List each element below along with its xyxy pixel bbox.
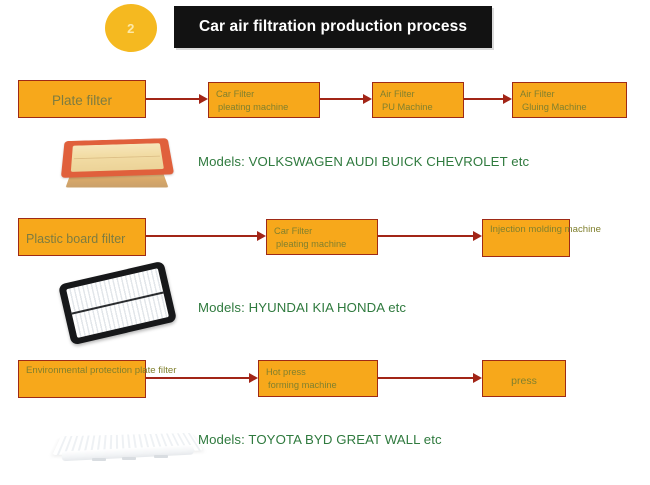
process-box-injection-molding-machine[interactable]: Injection molding machine [482, 219, 570, 257]
arrow-head [249, 373, 258, 383]
arrow-r2-1 [146, 231, 266, 241]
filter-seam [74, 156, 160, 160]
process-box-line1: Air Filter [520, 89, 555, 99]
process-box-label: Air Filter PU Machine [373, 83, 463, 113]
process-box-plastic-board-filter[interactable]: Plastic board filter [18, 218, 146, 256]
process-box-car-filter-pleating-machine-1[interactable]: Car Filter pleating machine [208, 82, 320, 118]
product-image-cabin-filter-black [58, 261, 178, 350]
arrow-head [199, 94, 208, 104]
filter-tab [154, 455, 168, 458]
process-box-plate-filter[interactable]: Plate filter [18, 80, 146, 118]
arrow-shaft [146, 235, 257, 237]
process-box-line1: Air Filter [380, 89, 415, 99]
step-number-badge: 2 [105, 4, 157, 52]
process-box-car-filter-pleating-machine-2[interactable]: Car Filter pleating machine [266, 219, 378, 255]
arrow-shaft [378, 235, 473, 237]
arrow-r3-2 [378, 373, 482, 383]
process-box-label: press [483, 361, 565, 388]
process-box-line2: pleating machine [274, 238, 377, 251]
arrow-shaft [464, 98, 503, 100]
arrow-r1-1 [146, 94, 208, 104]
process-box-line2: molding machine [528, 224, 601, 235]
arrow-r2-2 [378, 231, 482, 241]
process-box-label: Injection molding machine [483, 220, 569, 237]
arrow-head [363, 94, 372, 104]
process-box-label: Plate filter [19, 81, 145, 110]
process-box-label: Plastic board filter [19, 219, 145, 248]
process-box-line1: Car Filter [216, 89, 254, 99]
process-box-label: Environmental protection plate filter [19, 361, 145, 378]
page-title-bar: Car air filtration production process [174, 6, 492, 48]
process-box-line1: Injection [490, 224, 526, 235]
process-box-hot-press-forming-machine[interactable]: Hot press forming machine [258, 360, 378, 397]
product-image-panel-filter-orange [63, 136, 171, 194]
filter-tab [92, 458, 106, 461]
step-number-label: 2 [127, 21, 135, 36]
process-box-label: Air Filter Gluing Machine [513, 83, 626, 113]
arrow-head [473, 231, 482, 241]
filter-frame [58, 261, 177, 346]
arrow-head [257, 231, 266, 241]
arrow-shaft [378, 377, 473, 379]
process-box-line2: Gluing Machine [520, 101, 626, 114]
process-box-line2: forming machine [266, 379, 377, 392]
arrow-shaft [146, 98, 199, 100]
process-box-environmental-protection-plate-filter[interactable]: Environmental protection plate filter [18, 360, 146, 398]
filter-tab [122, 457, 136, 460]
filter-media [71, 143, 164, 172]
filter-frame-top [61, 138, 174, 178]
arrow-shaft [146, 377, 249, 379]
process-box-label: Car Filter pleating machine [209, 83, 319, 113]
process-box-line1: Car Filter [274, 226, 312, 236]
process-box-label: Car Filter pleating machine [267, 220, 377, 250]
models-label-row1: Models: VOLKSWAGEN AUDI BUICK CHEVROLET … [198, 154, 529, 169]
process-box-line1: Environmental [26, 365, 87, 376]
arrow-r3-1 [146, 373, 258, 383]
process-box-line2: pleating machine [216, 101, 319, 114]
models-label-row3: Models: TOYOTA BYD GREAT WALL etc [198, 432, 442, 447]
process-box-air-filter-pu-machine[interactable]: Air Filter PU Machine [372, 82, 464, 118]
process-box-line1: Hot press [266, 367, 306, 377]
product-image-white-flat-filter [58, 422, 198, 472]
page-title: Car air filtration production process [199, 18, 467, 36]
arrow-r1-2 [320, 94, 372, 104]
process-box-label: Hot press forming machine [259, 361, 377, 391]
process-box-press[interactable]: press [482, 360, 566, 397]
arrow-head [503, 94, 512, 104]
arrow-shaft [320, 98, 363, 100]
arrow-r1-3 [464, 94, 512, 104]
process-box-line2: PU Machine [380, 101, 463, 114]
arrow-head [473, 373, 482, 383]
process-box-air-filter-gluing-machine[interactable]: Air Filter Gluing Machine [512, 82, 627, 118]
models-label-row2: Models: HYUNDAI KIA HONDA etc [198, 300, 406, 315]
